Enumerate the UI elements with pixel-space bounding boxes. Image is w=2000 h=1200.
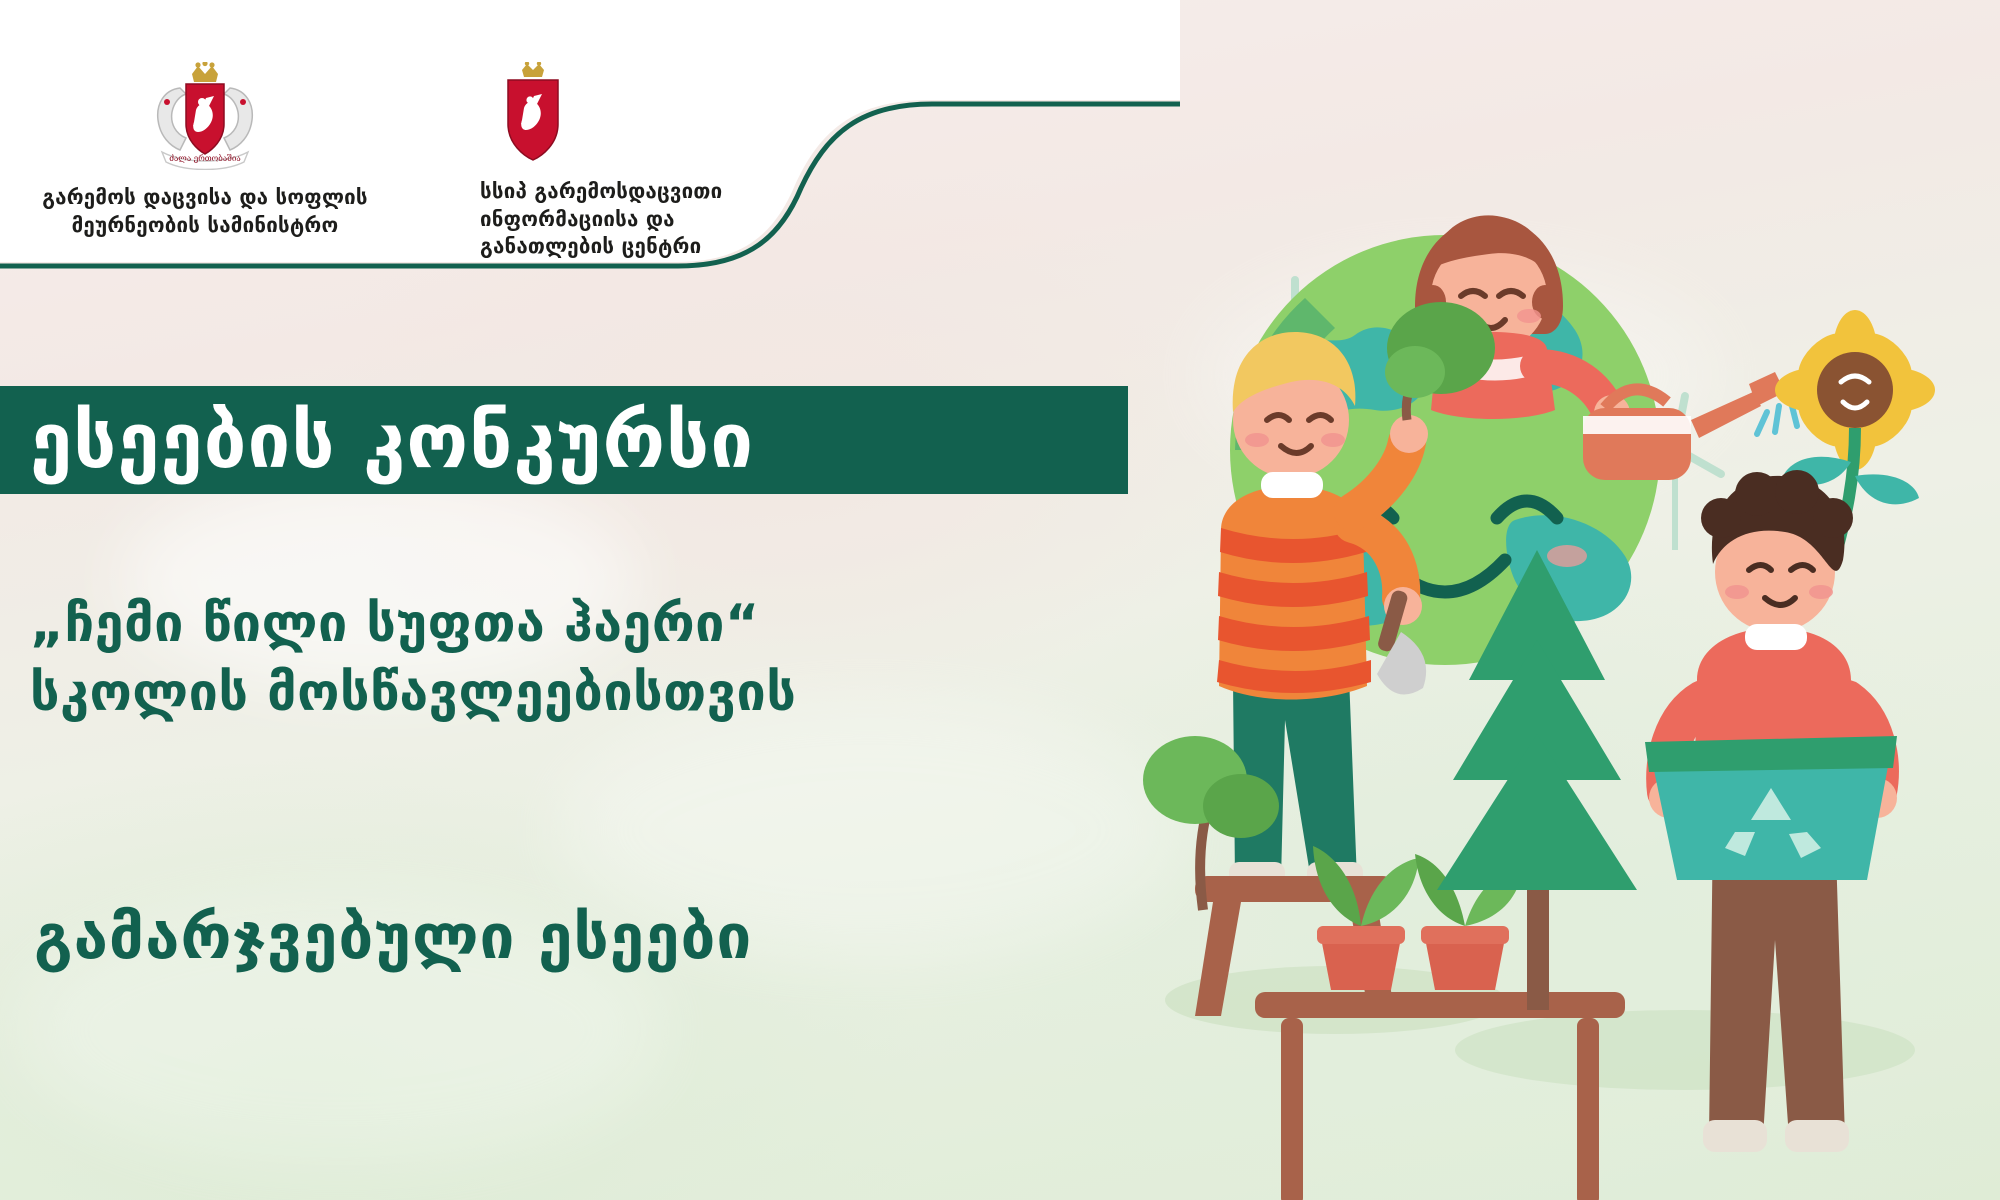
main-title-bar: ესეების კონკურსი bbox=[0, 386, 1128, 494]
logo-row: ძალა ერთობაშია გარემოს დაცვისა და სოფლის… bbox=[0, 0, 1180, 352]
center-emblem-icon bbox=[490, 62, 576, 166]
subtitle-line-2: სკოლის მოსწავლეებისთვის bbox=[30, 659, 1190, 728]
children-planting-earth-illustration bbox=[1085, 120, 1985, 1200]
svg-text:ძალა ერთობაშია: ძალა ერთობაშია bbox=[169, 154, 240, 163]
ministry-logo-caption: გარემოს დაცვისა და სოფლისმეურნეობის სამი… bbox=[40, 184, 370, 239]
georgia-coat-of-arms-icon: ძალა ერთობაშია bbox=[140, 62, 270, 170]
center-logo: სსიპ გარემოსდაცვითიინფორმაციისა დაგანათლ… bbox=[480, 62, 840, 261]
subtitle-line-1: „ჩემი წილი სუფთა ჰაერი“ bbox=[30, 590, 1190, 659]
poster-canvas: ძალა ერთობაშია გარემოს დაცვისა და სოფლის… bbox=[0, 0, 2000, 1200]
ministry-logo: ძალა ერთობაშია გარემოს დაცვისა და სოფლის… bbox=[40, 62, 370, 239]
winners-heading: გამარჯვებული ესეები bbox=[34, 900, 1234, 973]
subtitle: „ჩემი წილი სუფთა ჰაერი“ სკოლის მოსწავლეე… bbox=[30, 590, 1190, 727]
recycling-box-icon bbox=[1645, 736, 1897, 880]
center-logo-caption: სსიპ გარემოსდაცვითიინფორმაციისა დაგანათლ… bbox=[480, 178, 840, 261]
page-title: ესეების კონკურსი bbox=[0, 396, 754, 485]
